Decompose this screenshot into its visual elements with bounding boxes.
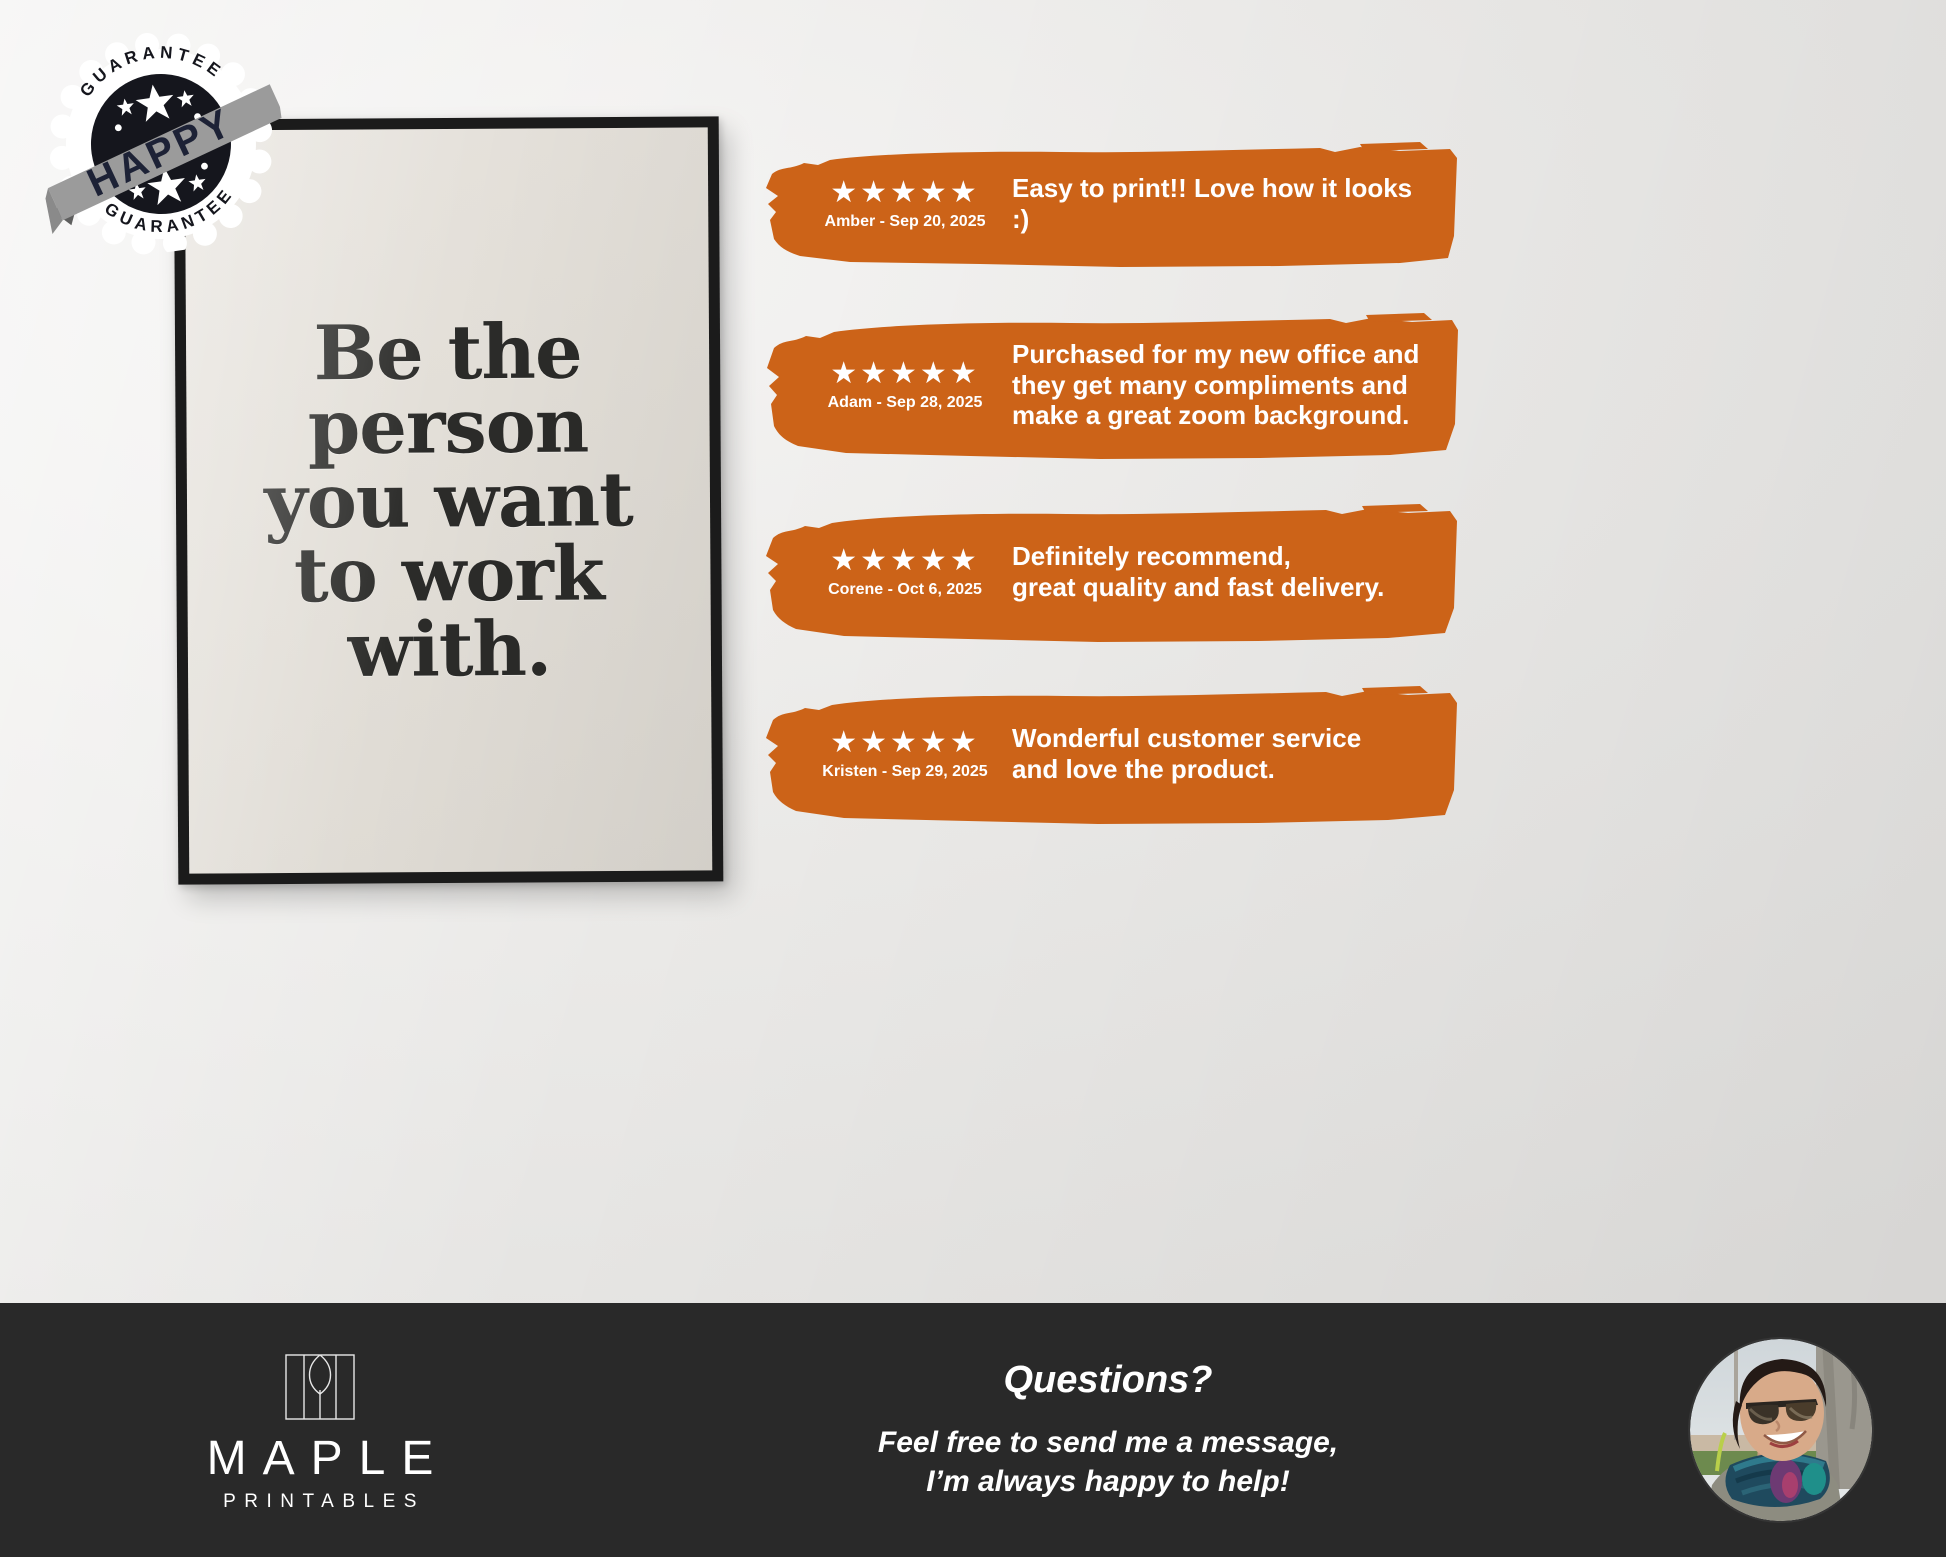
questions-line-2: I’m always happy to help! (640, 1463, 1576, 1501)
review-content: ★★★★★ Kristen - Sep 29, 2025 Wonderful c… (760, 723, 1460, 784)
review-line: Purchased for my new office and (1012, 339, 1430, 370)
maple-mark-icon (285, 1354, 355, 1425)
review-item: ★★★★★ Amber - Sep 20, 2025 Easy to print… (760, 140, 1460, 268)
brand-logo: MAPLE PRINTABLES (0, 1348, 640, 1513)
avatar (1690, 1339, 1872, 1521)
footer-bar: MAPLE PRINTABLES Questions? Feel free to… (0, 1303, 1946, 1557)
brand-name: MAPLE (191, 1435, 450, 1483)
review-text: Easy to print!! Love how it looks :) (994, 173, 1430, 234)
review-author-date: Adam - Sep 28, 2025 (816, 394, 994, 412)
review-rating: ★★★★★ Corene - Oct 6, 2025 (816, 545, 994, 600)
review-line: and love the product. (1012, 754, 1430, 785)
brand-subtitle: PRINTABLES (215, 1491, 425, 1513)
review-rating: ★★★★★ Kristen - Sep 29, 2025 (816, 727, 994, 782)
review-text: Definitely recommend, great quality and … (994, 541, 1430, 602)
review-author-date: Corene - Oct 6, 2025 (816, 581, 994, 599)
poster-line: Be the (204, 313, 691, 390)
poster-line: with. (206, 610, 693, 687)
review-rating: ★★★★★ Adam - Sep 28, 2025 (816, 358, 994, 413)
poster-line: you want (205, 462, 692, 539)
review-author-date: Amber - Sep 20, 2025 (816, 213, 994, 231)
review-rating: ★★★★★ Amber - Sep 20, 2025 (816, 177, 994, 232)
review-line: great quality and fast delivery. (1012, 572, 1430, 603)
review-text: Purchased for my new office and they get… (994, 339, 1430, 431)
review-line: Easy to print!! Love how it looks :) (1012, 173, 1430, 234)
review-item: ★★★★★ Corene - Oct 6, 2025 Definitely re… (760, 502, 1460, 642)
review-text: Wonderful customer service and love the … (994, 723, 1430, 784)
avatar-block (1616, 1339, 1946, 1521)
logo-glyph-icon (285, 1354, 355, 1420)
questions-block: Questions? Feel free to send me a messag… (640, 1359, 1616, 1501)
happy-guarantee-badge: GUARANTEE GUARANTEE HAPPY (23, 6, 298, 268)
review-item: ★★★★★ Adam - Sep 28, 2025 Purchased for … (760, 310, 1460, 460)
poster-line: person (204, 388, 691, 465)
review-content: ★★★★★ Adam - Sep 28, 2025 Purchased for … (760, 339, 1460, 431)
review-line: they get many compliments and (1012, 370, 1430, 401)
review-author-date: Kristen - Sep 29, 2025 (816, 763, 994, 781)
review-content: ★★★★★ Amber - Sep 20, 2025 Easy to print… (760, 173, 1460, 234)
seller-portrait-icon (1690, 1339, 1872, 1521)
review-item: ★★★★★ Kristen - Sep 29, 2025 Wonderful c… (760, 684, 1460, 824)
star-rating-icon: ★★★★★ (816, 727, 994, 759)
review-content: ★★★★★ Corene - Oct 6, 2025 Definitely re… (760, 541, 1460, 602)
review-line: Wonderful customer service (1012, 723, 1430, 754)
badge-icon: GUARANTEE GUARANTEE HAPPY (23, 6, 298, 268)
poster-line: to work (205, 536, 692, 613)
questions-title: Questions? (640, 1359, 1576, 1402)
review-line: make a great zoom background. (1012, 400, 1430, 431)
star-rating-icon: ★★★★★ (816, 177, 994, 209)
reviews-list: ★★★★★ Amber - Sep 20, 2025 Easy to print… (760, 140, 1460, 824)
poster-quote: Be the person you want to work with. (186, 313, 711, 687)
star-rating-icon: ★★★★★ (816, 545, 994, 577)
poster-paper: Be the person you want to work with. (185, 127, 713, 873)
review-line: Definitely recommend, (1012, 541, 1430, 572)
questions-line-1: Feel free to send me a message, (640, 1424, 1576, 1462)
star-rating-icon: ★★★★★ (816, 358, 994, 390)
